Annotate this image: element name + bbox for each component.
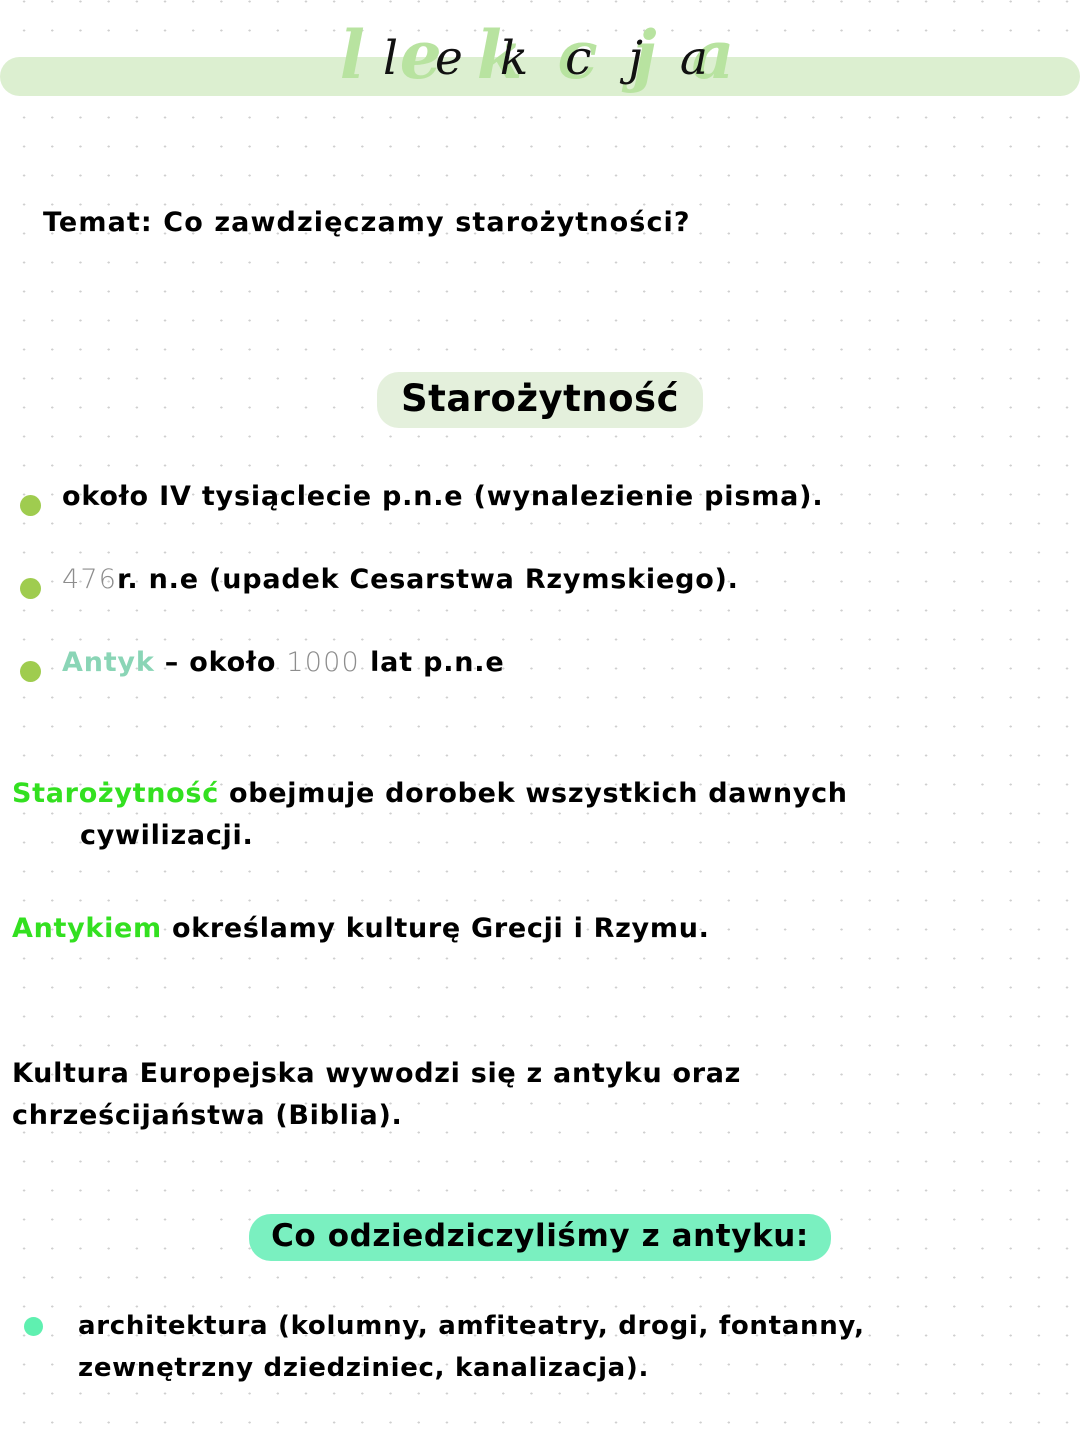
section1-bullet-list: około IV tysiąclecie p.n.e (wynalezienie…	[0, 481, 1080, 730]
list-item-label: Antyk – około 1000 lat p.n.e	[62, 647, 504, 678]
definition-starozytnosc: Starożytność obejmuje dorobek wszystkich…	[12, 773, 1022, 857]
list-item: około IV tysiąclecie p.n.e (wynalezienie…	[0, 481, 1080, 564]
bullet-2-year: 476	[62, 564, 117, 595]
definition-second-line: cywilizacji.	[12, 815, 253, 857]
culture-paragraph-line1: Kultura Europejska wywodzi się z antyku …	[12, 1053, 1022, 1095]
bullet-3-tail: lat p.n.e	[360, 647, 505, 678]
section2-bullet-list: architektura (kolumny, amfiteatry, drogi…	[0, 1305, 1080, 1389]
culture-paragraph: Kultura Europejska wywodzi się z antyku …	[12, 1053, 1022, 1137]
definition-term: Antykiem	[12, 913, 162, 944]
definition-term: Starożytność	[12, 778, 219, 809]
bullet-1-text: około IV tysiąclecie p.n.e (wynalezienie…	[62, 481, 823, 512]
definition-rest: określamy kulturę Grecji i Rzymu.	[162, 913, 710, 944]
definition-rest: obejmuje dorobek wszystkich dawnych	[219, 778, 848, 809]
culture-paragraph-line2: chrześcijaństwa (Biblia).	[12, 1095, 1022, 1137]
section2-bullet-line1: architektura (kolumny, amfiteatry, drogi…	[78, 1305, 1080, 1347]
bullet-3-number: 1000	[286, 647, 360, 678]
bullet-dot-icon	[20, 495, 41, 516]
section1-heading: Starożytność	[0, 372, 1080, 428]
bullet-dot-icon	[24, 1317, 43, 1336]
bullet-dot-icon	[20, 578, 41, 599]
list-item: Antyk – około 1000 lat p.n.e	[0, 647, 1080, 730]
section2-heading: Co odziedziczyliśmy z antyku:	[0, 1214, 1080, 1261]
bullet-3-term: Antyk	[62, 647, 155, 678]
page-title-text: l e k c j a	[11, 35, 1080, 82]
bullet-3-mid: – około	[155, 647, 287, 678]
bullet-dot-icon	[20, 661, 41, 682]
topic-line: Temat: Co zawdzięczamy starożytności?	[43, 207, 691, 238]
page-title: l e k c j a l e k c j a	[0, 22, 1080, 122]
section2-bullet-line2: zewnętrzny dziedziniec, kanalizacja).	[78, 1347, 1080, 1389]
list-item-label: 476r. n.e (upadek Cesarstwa Rzymskiego).	[62, 564, 739, 595]
list-item-label: architektura (kolumny, amfiteatry, drogi…	[78, 1305, 1080, 1389]
list-item: 476r. n.e (upadek Cesarstwa Rzymskiego).	[0, 564, 1080, 647]
section1-heading-pill: Starożytność	[377, 372, 703, 428]
definition-antykiem: Antykiem określamy kulturę Grecji i Rzym…	[12, 908, 1022, 950]
bullet-2-text: r. n.e (upadek Cesarstwa Rzymskiego).	[117, 564, 739, 595]
section2-heading-pill: Co odziedziczyliśmy z antyku:	[249, 1214, 831, 1261]
list-item-label: około IV tysiąclecie p.n.e (wynalezienie…	[62, 481, 823, 512]
